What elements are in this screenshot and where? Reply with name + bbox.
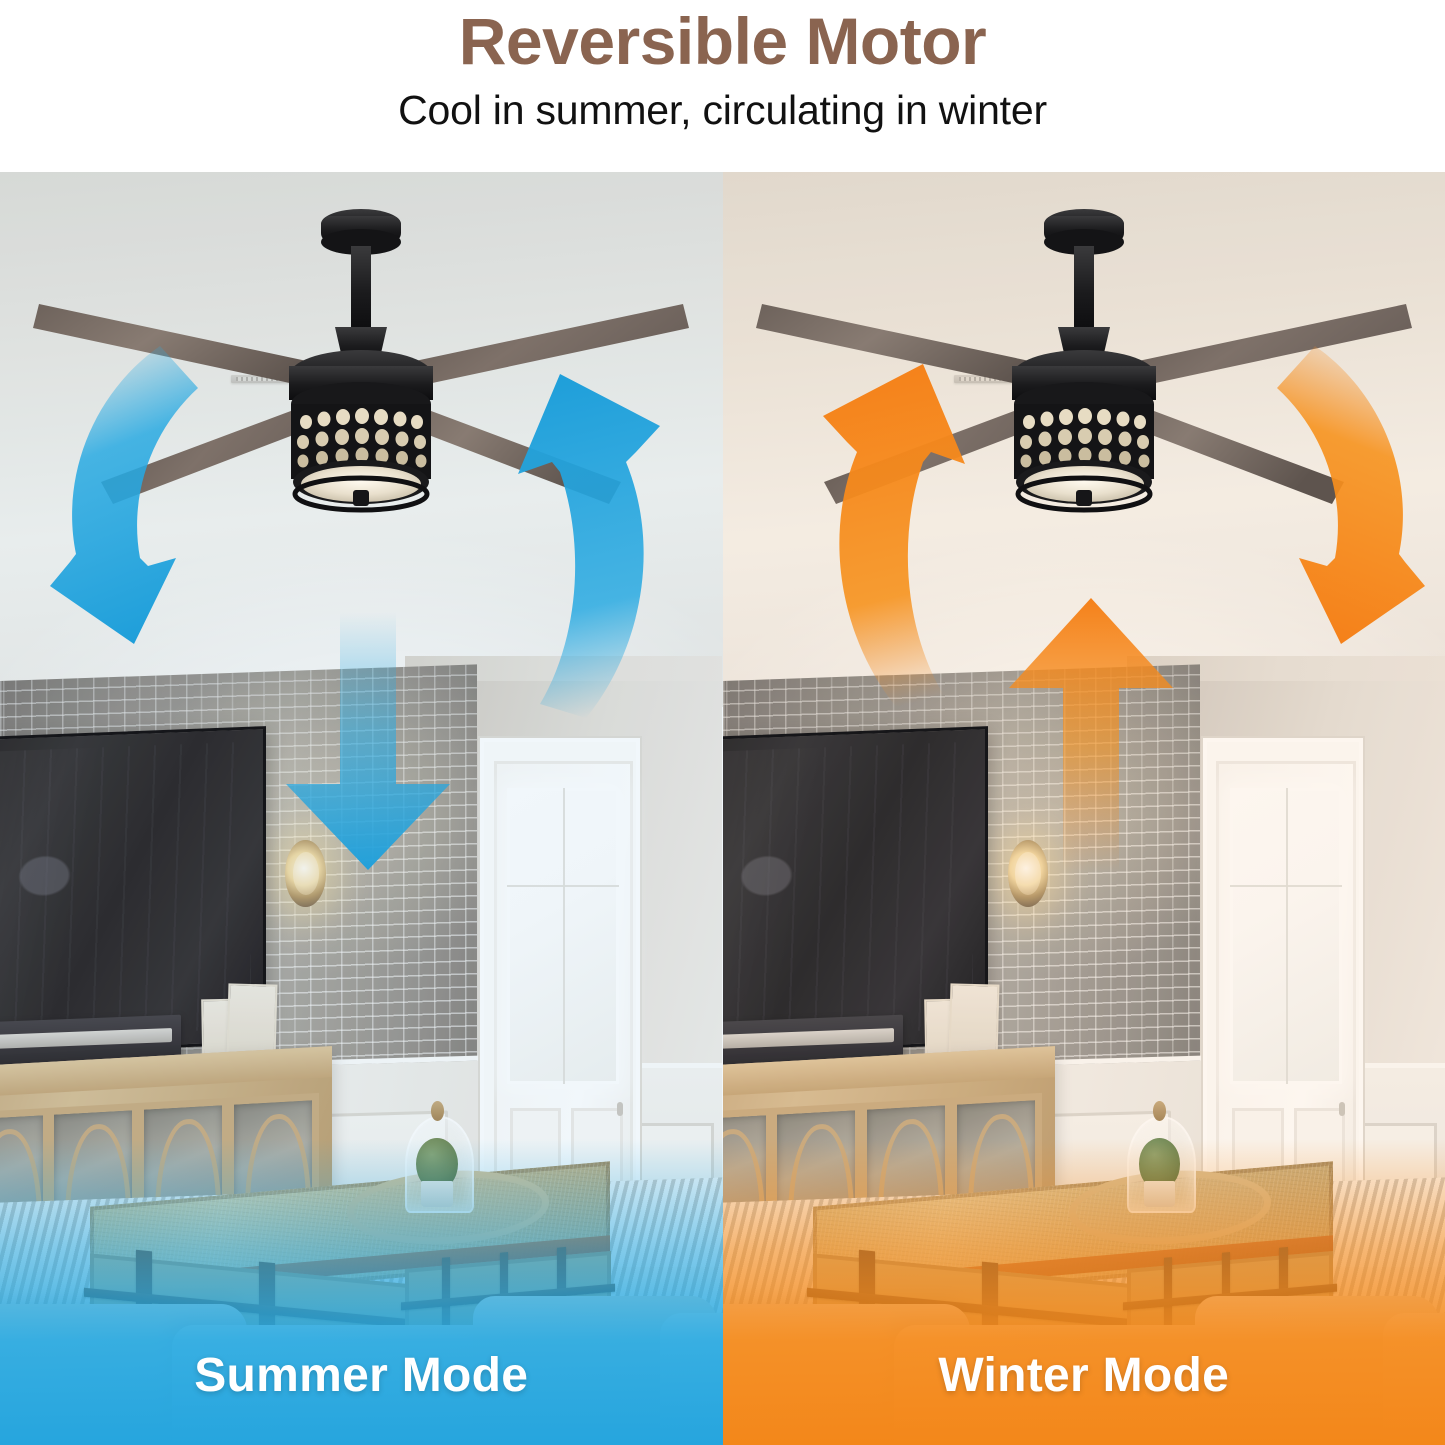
- mode-label-winter: Winter Mode: [723, 1348, 1445, 1403]
- page-subtitle: Cool in summer, circulating in winter: [398, 90, 1047, 131]
- panel-winter: Winter Mode: [723, 172, 1445, 1445]
- ceiling-fan-winter: [754, 194, 1414, 534]
- glass-cloche-plant: [405, 1101, 470, 1209]
- glass-cloche-plant: [1127, 1101, 1192, 1209]
- product-infographic: Reversible Motor Cool in summer, circula…: [0, 0, 1445, 1445]
- wall-sconce-icon: [285, 840, 325, 906]
- wall-sconce-icon: [1008, 840, 1048, 906]
- ceiling-fan-summer: [31, 194, 691, 534]
- page-title: Reversible Motor: [459, 8, 986, 74]
- panel-summer: Summer Mode: [0, 172, 723, 1445]
- header: Reversible Motor Cool in summer, circula…: [0, 0, 1445, 172]
- comparison-panels: Summer Mode: [0, 172, 1445, 1445]
- mode-label-summer: Summer Mode: [0, 1348, 723, 1403]
